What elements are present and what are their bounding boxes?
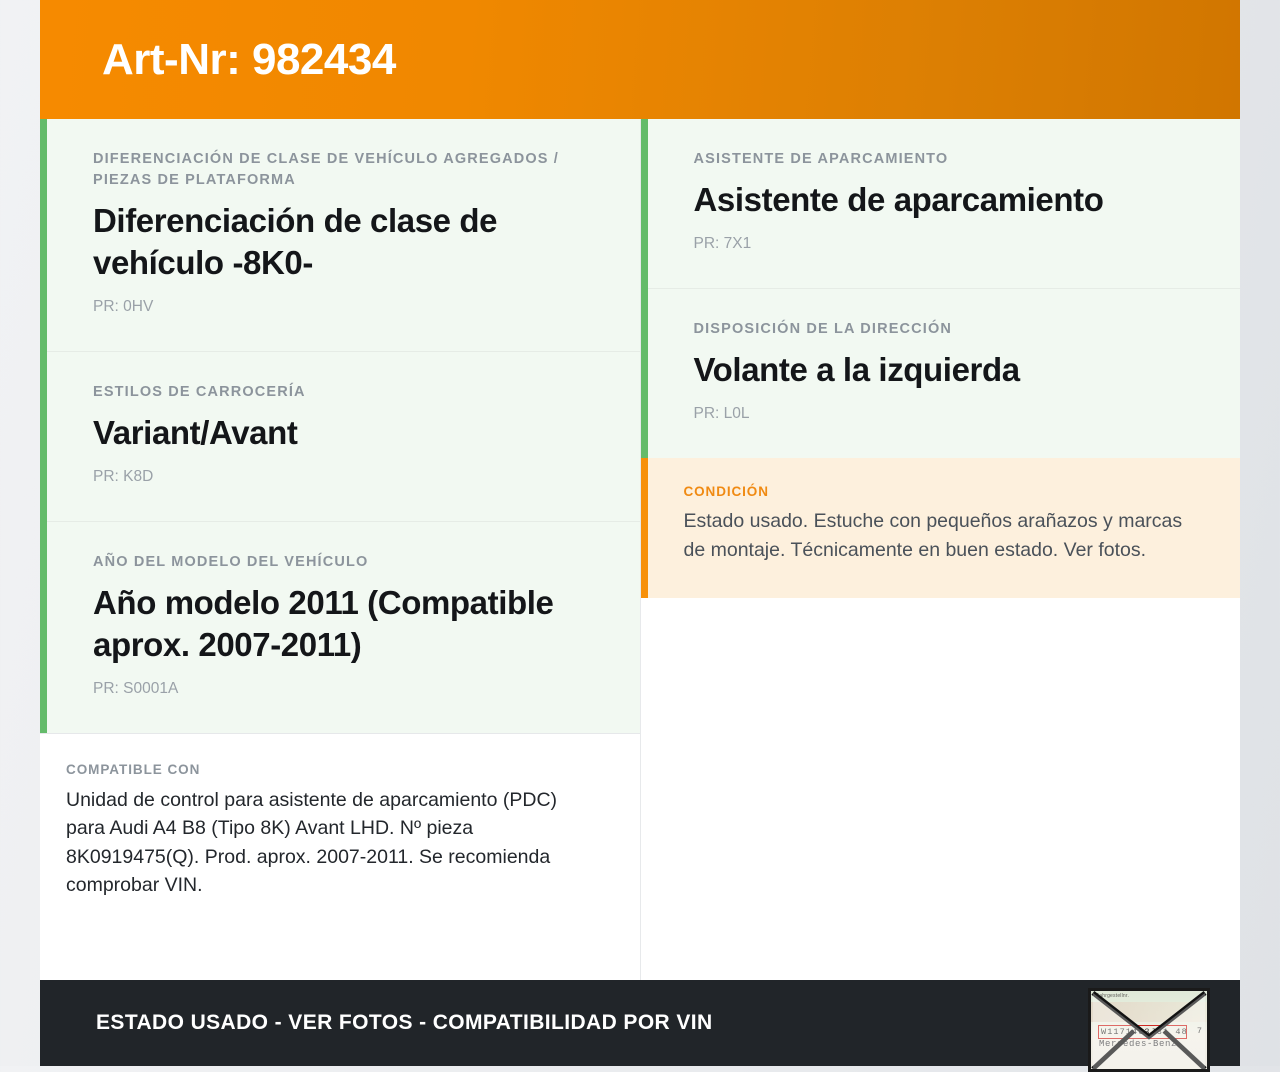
compatible-with-label: COMPATIBLE CON — [66, 762, 594, 777]
vin-tail: 7 — [1197, 1026, 1202, 1036]
spec-value: Asistente de aparcamiento — [694, 179, 1195, 221]
right-column: ASISTENTE DE APARCAMIENTO Asistente de a… — [641, 119, 1241, 980]
right-spec-group: ASISTENTE DE APARCAMIENTO Asistente de a… — [641, 119, 1241, 458]
spec-pr-code: PR: S0001A — [93, 679, 594, 699]
spec-pr-code: PR: 0HV — [93, 297, 594, 317]
spec-label: DIFERENCIACIÓN DE CLASE DE VEHÍCULO AGRE… — [93, 149, 594, 191]
listing-card: Art-Nr: 982434 DIFERENCIACIÓN DE CLASE D… — [40, 0, 1240, 1066]
spec-card-steering-position: DISPOSICIÓN DE LA DIRECCIÓN Volante a la… — [648, 289, 1241, 458]
vehicle-document-photo: Fahrgestellnr. W1171463J31 48 7 Mercedes… — [1091, 991, 1207, 1069]
spec-pr-code: PR: K8D — [93, 467, 594, 487]
spec-card-body-style: ESTILOS DE CARROCERÍA Variant/Avant PR: … — [47, 352, 640, 522]
header-banner: Art-Nr: 982434 — [40, 0, 1240, 119]
condition-label: CONDICIÓN — [684, 484, 1195, 499]
spec-label: ESTILOS DE CARROCERÍA — [93, 382, 594, 403]
condition-text: Estado usado. Estuche con pequeños araña… — [684, 507, 1195, 564]
spec-value: Volante a la izquierda — [694, 349, 1195, 391]
document-brand: Mercedes-Benz — [1099, 1039, 1177, 1049]
page-title: Art-Nr: 982434 — [102, 38, 396, 82]
left-spec-group: DIFERENCIACIÓN DE CLASE DE VEHÍCULO AGRE… — [40, 119, 640, 733]
vin-highlight: W1171463J31 48 — [1098, 1025, 1187, 1039]
spec-label: AÑO DEL MODELO DEL VEHÍCULO — [93, 552, 594, 573]
left-column-filler — [40, 930, 640, 980]
spec-pr-code: PR: 7X1 — [694, 234, 1195, 254]
spec-pr-code: PR: L0L — [694, 404, 1195, 424]
condition-block: CONDICIÓN Estado usado. Estuche con pequ… — [641, 458, 1241, 598]
footer-text: ESTADO USADO - VER FOTOS - COMPATIBILIDA… — [96, 1011, 713, 1035]
document-caption: Fahrgestellnr. — [1096, 993, 1129, 999]
footer-banner: ESTADO USADO - VER FOTOS - COMPATIBILIDA… — [40, 980, 1240, 1066]
compatible-with-text: Unidad de control para asistente de apar… — [66, 786, 594, 900]
spec-label: ASISTENTE DE APARCAMIENTO — [694, 149, 1195, 170]
spec-card-parking-assist: ASISTENTE DE APARCAMIENTO Asistente de a… — [648, 119, 1241, 289]
spec-value: Año modelo 2011 (Compatible aprox. 2007-… — [93, 582, 594, 666]
left-column: DIFERENCIACIÓN DE CLASE DE VEHÍCULO AGRE… — [40, 119, 640, 980]
spec-label: DISPOSICIÓN DE LA DIRECCIÓN — [694, 319, 1195, 340]
right-column-filler — [641, 598, 1241, 980]
spec-value: Variant/Avant — [93, 412, 594, 454]
spec-card-vehicle-class: DIFERENCIACIÓN DE CLASE DE VEHÍCULO AGRE… — [47, 119, 640, 352]
content-area: DIFERENCIACIÓN DE CLASE DE VEHÍCULO AGRE… — [40, 119, 1240, 980]
spec-value: Diferenciación de clase de vehículo -8K0… — [93, 200, 594, 284]
document-band — [1091, 1002, 1207, 1022]
spec-card-model-year: AÑO DEL MODELO DEL VEHÍCULO Año modelo 2… — [47, 522, 640, 733]
document-thumbnail[interactable]: Fahrgestellnr. W1171463J31 48 7 Mercedes… — [1088, 988, 1210, 1072]
compatible-with-block: COMPATIBLE CON Unidad de control para as… — [40, 733, 640, 930]
